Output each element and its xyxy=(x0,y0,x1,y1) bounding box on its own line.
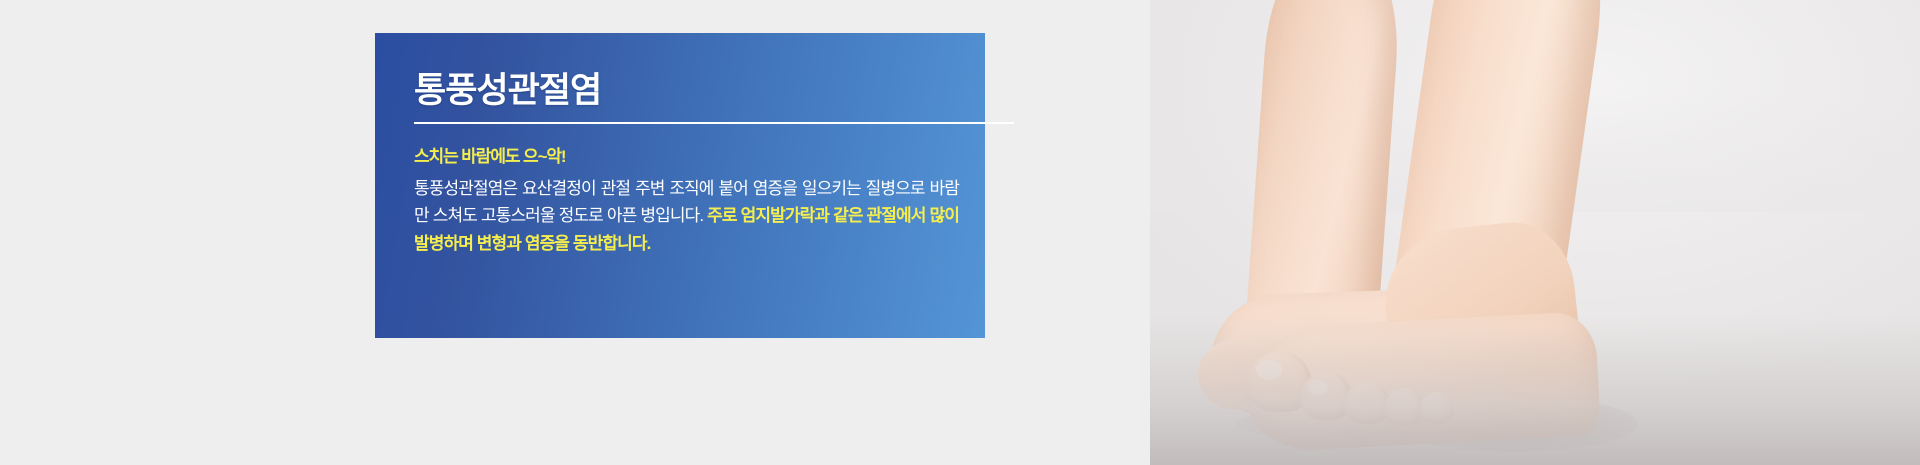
floor-shading xyxy=(1150,315,1920,465)
title-underline-rule xyxy=(414,122,1014,124)
bare-feet-photo xyxy=(1150,0,1920,465)
gout-arthritis-banner: 통풍성관절염 스치는 바람에도 으~악! 통풍성관절염은 요산결정이 관절 주변… xyxy=(0,0,1920,465)
panel-body-copy: 통풍성관절염은 요산결정이 관절 주변 조직에 붙어 염증을 일으키는 질병으로… xyxy=(414,167,959,258)
info-panel-content: 통풍성관절염 스치는 바람에도 으~악! 통풍성관절염은 요산결정이 관절 주변… xyxy=(414,33,965,338)
info-panel: 통풍성관절염 스치는 바람에도 으~악! 통풍성관절염은 요산결정이 관절 주변… xyxy=(375,33,985,338)
page-title: 통풍성관절염 xyxy=(414,33,965,111)
panel-subheading: 스치는 바람에도 으~악! xyxy=(414,111,965,167)
